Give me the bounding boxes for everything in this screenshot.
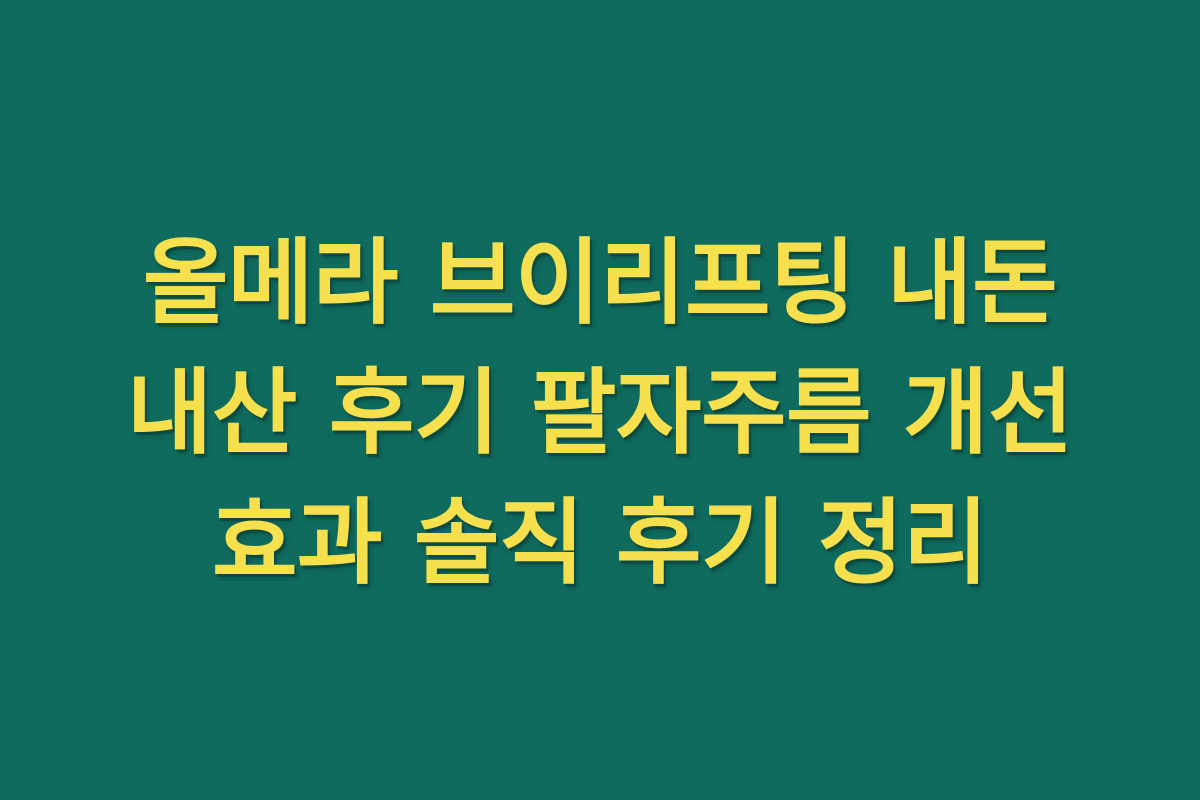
headline-line-1: 올메라 브이리프팅 내돈 (143, 218, 1057, 348)
thumbnail-card: 올메라 브이리프팅 내돈 내산 후기 팔자주름 개선 효과 솔직 후기 정리 (0, 0, 1200, 800)
headline-line-3: 효과 솔직 후기 정리 (212, 478, 988, 608)
headline-block: 올메라 브이리프팅 내돈 내산 후기 팔자주름 개선 효과 솔직 후기 정리 (40, 218, 1160, 608)
headline-line-2: 내산 후기 팔자주름 개선 (127, 348, 1073, 478)
